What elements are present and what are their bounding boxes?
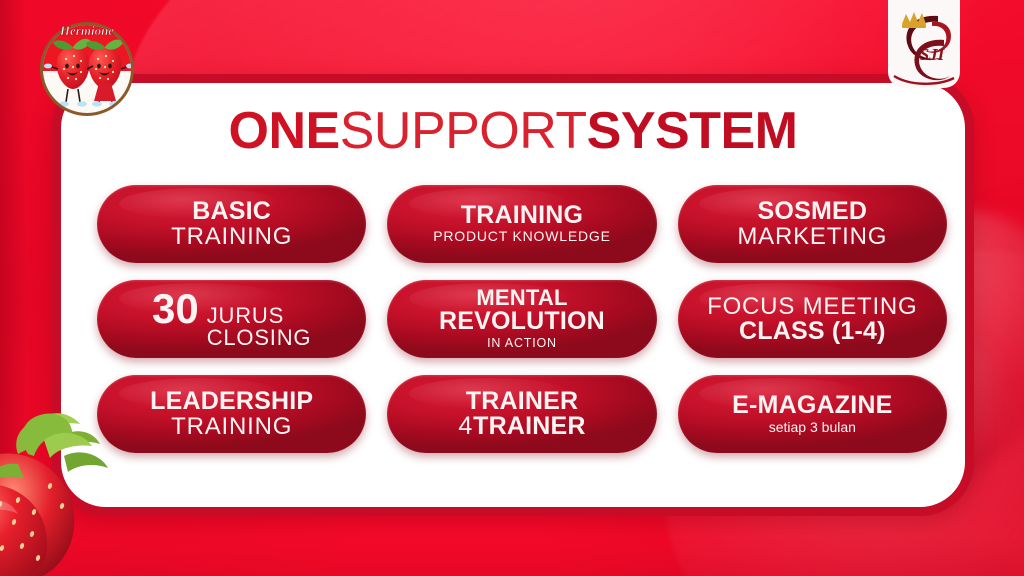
crown-emblem-icon: SJI (888, 0, 960, 88)
program-card-e-magazine[interactable]: E-MAGAZINE setiap 3 bulan (678, 375, 947, 453)
program-prefix: 4 (458, 414, 473, 440)
program-line-1: LEADERSHIP (150, 389, 313, 415)
logo-wordmark-text: Hermione (59, 23, 114, 38)
program-line-1: E-MAGAZINE (732, 393, 892, 419)
logo-sji[interactable]: SJI (888, 0, 960, 88)
program-line-2: MARKETING (737, 224, 887, 249)
program-card-30-jurus-closing[interactable]: 30 JURUS CLOSING (97, 280, 366, 358)
program-text-stack: JURUS CLOSING (207, 305, 312, 349)
program-line-3: IN ACTION (487, 335, 557, 351)
program-line-2: CLOSING (207, 327, 312, 349)
slide-canvas: ONESUPPORTSYSTEM BASIC TRAINING TRAINING… (0, 0, 1024, 576)
program-card-basic-training[interactable]: BASIC TRAINING (97, 185, 366, 263)
logo-hermione[interactable]: Hermione (33, 9, 141, 121)
program-line-2: TRAINER (473, 414, 586, 440)
program-line-1: TRAINER (466, 389, 579, 415)
program-line-1: JURUS (207, 305, 284, 327)
title-part-support: SUPPORT (340, 102, 587, 160)
program-line-2: PRODUCT KNOWLEDGE (433, 228, 610, 246)
program-line-1: SOSMED (758, 199, 868, 225)
program-line-1: BASIC (192, 199, 271, 225)
title-part-system: SYSTEM (587, 102, 798, 160)
program-line-2: TRAINING (171, 224, 292, 249)
strawberry-icon (0, 412, 164, 576)
program-card-training-product-knowledge[interactable]: TRAINING PRODUCT KNOWLEDGE (387, 185, 656, 263)
title-part-one: ONE (229, 102, 340, 160)
program-card-focus-meeting-class[interactable]: FOCUS MEETING CLASS (1-4) (678, 280, 947, 358)
program-line-1: FOCUS MEETING (707, 294, 917, 319)
program-card-trainer-4-trainer[interactable]: TRAINER 4 TRAINER (387, 375, 656, 453)
content-card: ONESUPPORTSYSTEM BASIC TRAINING TRAINING… (52, 74, 974, 516)
program-line-1: TRAINING (461, 203, 583, 229)
program-line-2: REVOLUTION (439, 309, 605, 335)
program-line-1: MENTAL (476, 287, 567, 309)
program-line-2: setiap 3 bulan (769, 419, 856, 435)
program-inline-group: 4 TRAINER (458, 414, 585, 440)
program-number: 30 (152, 290, 199, 329)
program-card-mental-revolution[interactable]: MENTAL REVOLUTION IN ACTION (387, 280, 656, 358)
strawberry-photo-decor (0, 412, 164, 576)
program-line-2: TRAINING (171, 414, 292, 439)
program-grid: BASIC TRAINING TRAINING PRODUCT KNOWLEDG… (97, 185, 947, 453)
strawberry-mascot-badge-icon: Hermione (33, 9, 141, 121)
program-line-2: CLASS (1-4) (739, 319, 886, 345)
program-inline-group: 30 JURUS CLOSING (152, 290, 311, 349)
page-title: ONESUPPORTSYSTEM (61, 105, 965, 157)
program-card-sosmed-marketing[interactable]: SOSMED MARKETING (678, 185, 947, 263)
logo-monogram-text: SJI (920, 45, 946, 64)
